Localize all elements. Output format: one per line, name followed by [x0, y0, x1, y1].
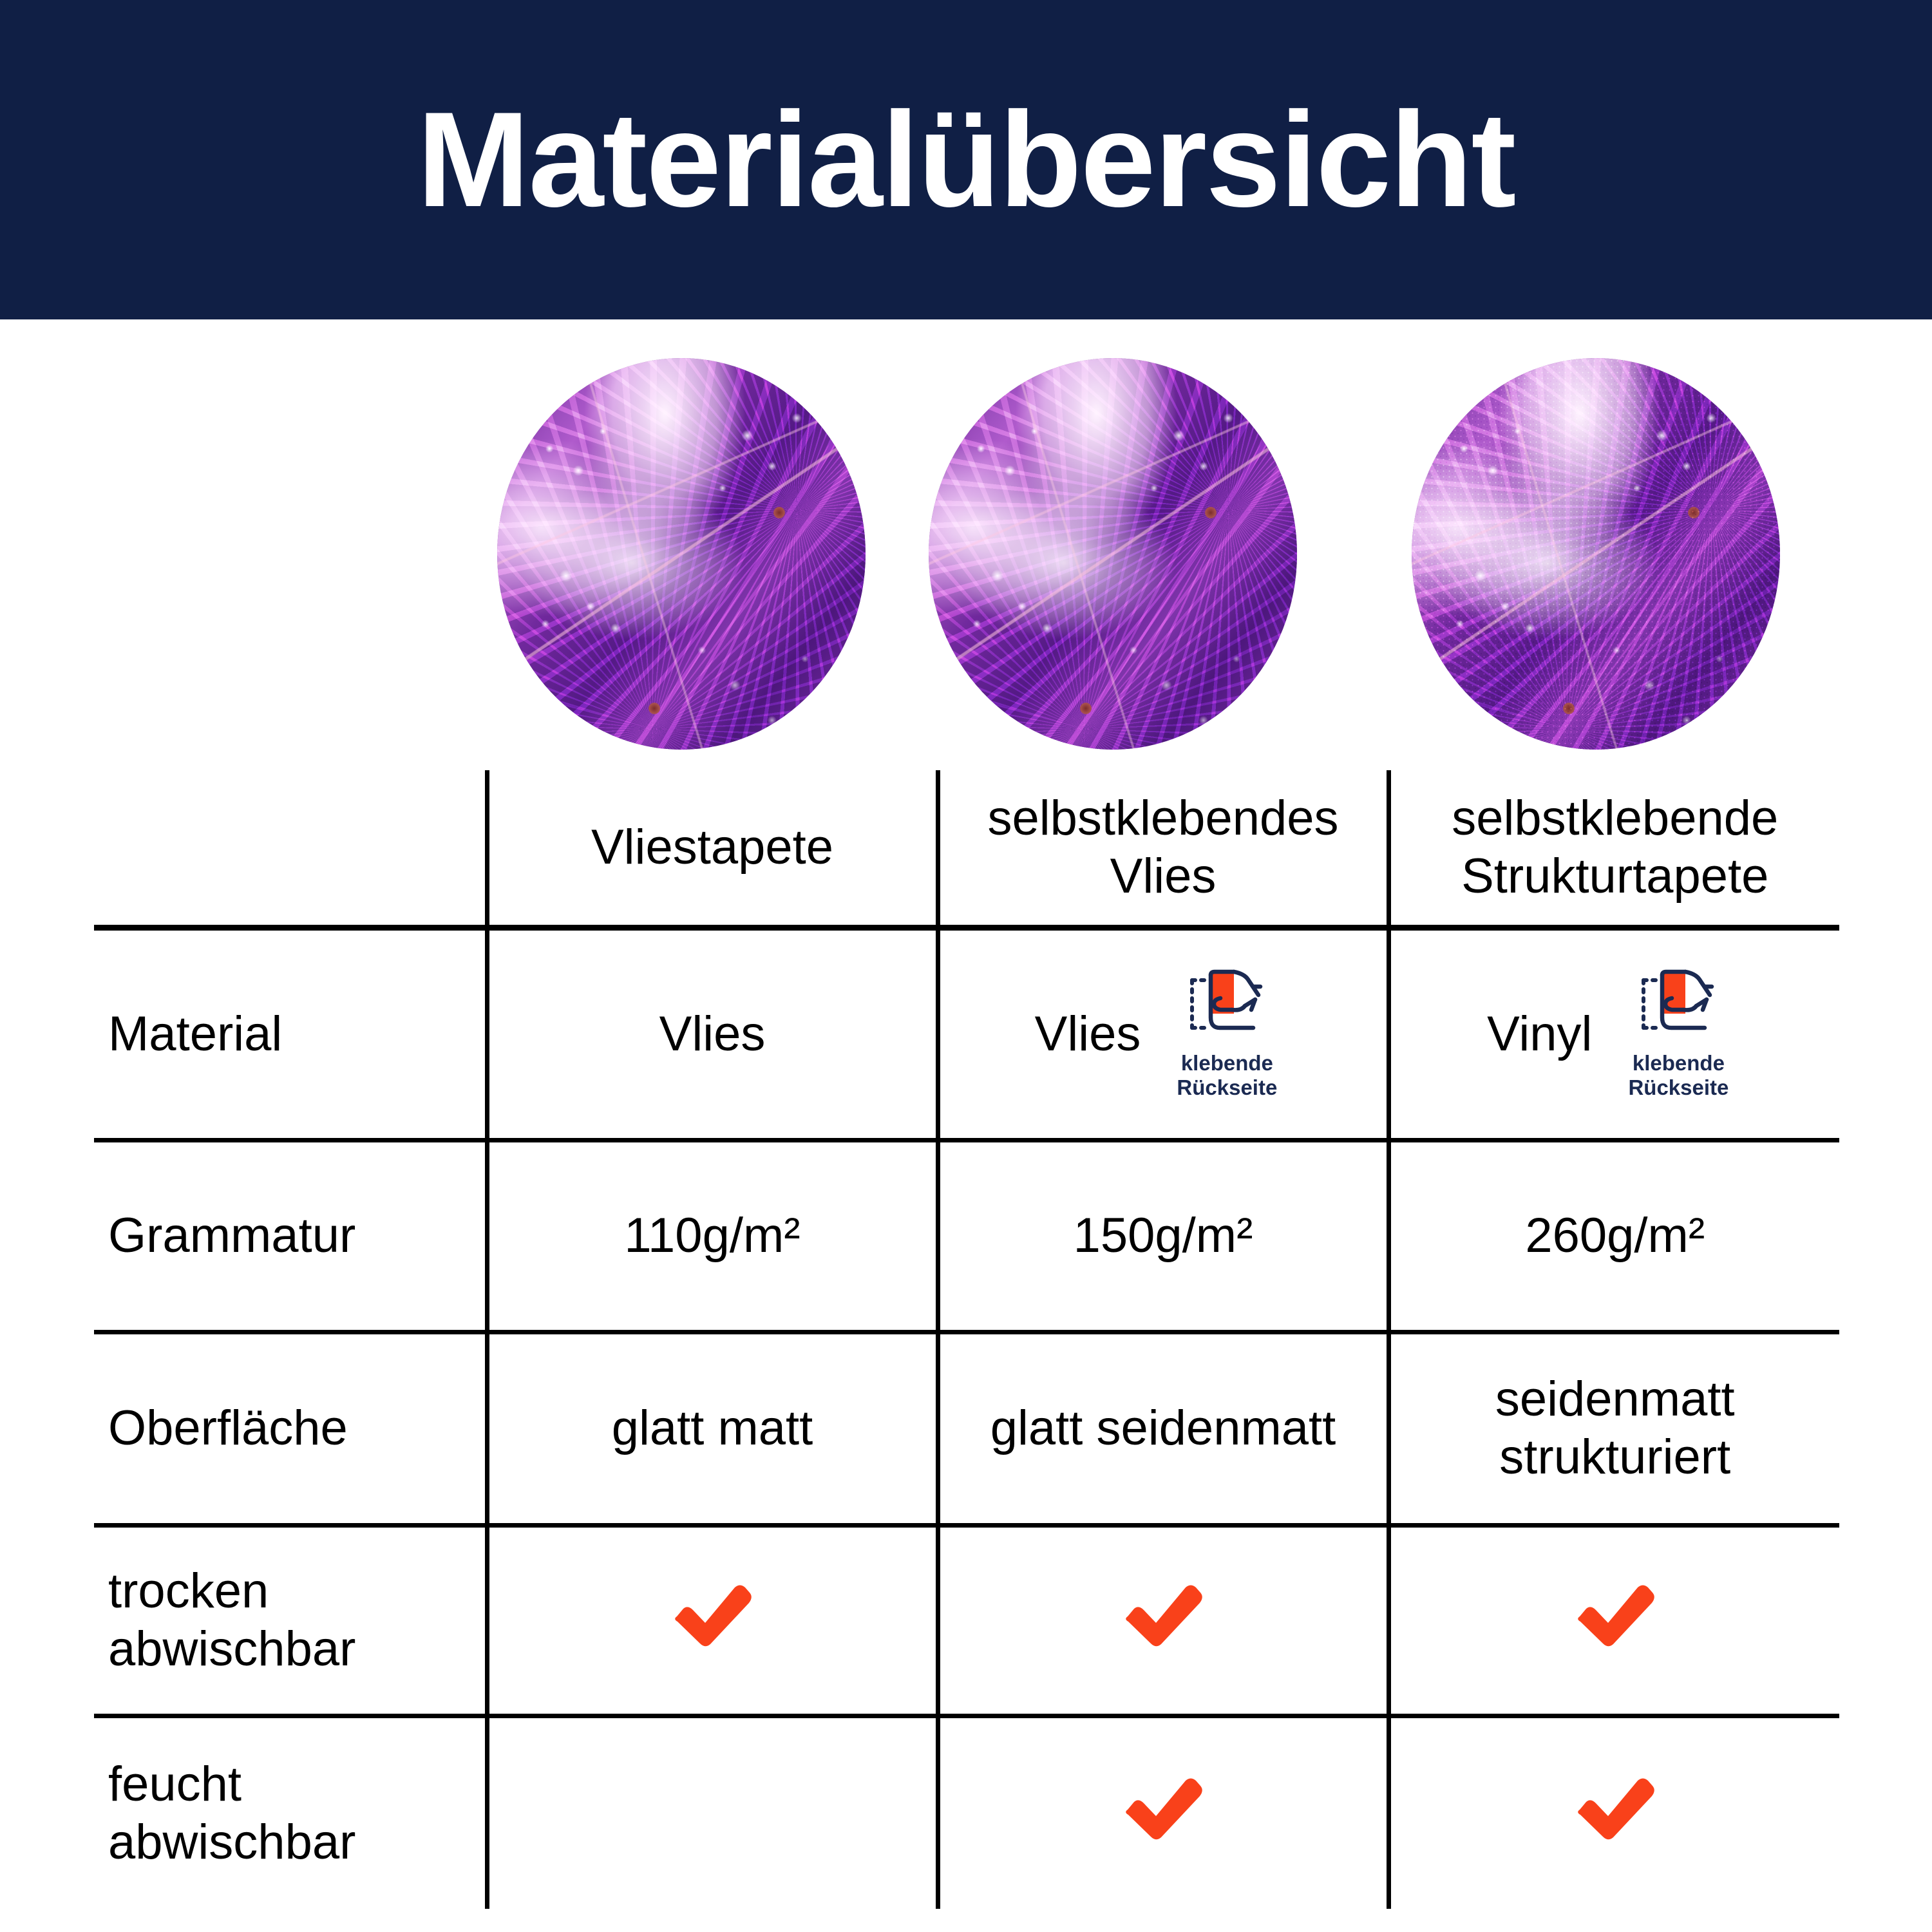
cell-trocken-selbstklebende-strukturtapete [1388, 1525, 1839, 1716]
adhesive-backing-badge: klebende Rückseite [1614, 969, 1743, 1100]
check-icon [1571, 1772, 1660, 1855]
table-row-grammatur: Grammatur 110g/m² 150g/m² 260g/m² [94, 1140, 1839, 1332]
table-row-feucht-abwischbar: feucht abwischbar [94, 1716, 1839, 1909]
header-cell-selbstklebende-strukturtapete: selbstklebende Strukturtapete [1388, 770, 1839, 927]
material-comparison-table: Vliestapete selbstklebendes Vlies selbst… [94, 770, 1839, 1909]
adhesive-backing-badge: klebende Rückseite [1162, 969, 1291, 1100]
check-icon [1119, 1579, 1207, 1662]
check-icon [1571, 1579, 1660, 1662]
cell-value: Vlies [1035, 1005, 1141, 1063]
peel-adhesive-backing-icon [1162, 969, 1291, 1051]
cell-material-selbstklebendes-vlies: Vlies [938, 927, 1388, 1140]
row-label-oberflaeche: Oberfläche [94, 1332, 487, 1525]
cell-feucht-selbstklebende-strukturtapete [1388, 1716, 1839, 1909]
badge-caption-line1: klebende [1162, 1052, 1291, 1075]
cell-feucht-vliestapete [487, 1716, 938, 1909]
table-row-trocken-abwischbar: trocken abwischbar [94, 1525, 1839, 1716]
cell-material-selbstklebende-strukturtapete: Vinyl [1388, 927, 1839, 1140]
cell-grammatur-selbstklebende-strukturtapete: 260g/m² [1388, 1140, 1839, 1332]
header-cell-selbstklebendes-vlies: selbstklebendes Vlies [938, 770, 1388, 927]
cell-feucht-selbstklebendes-vlies [938, 1716, 1388, 1909]
table-row-material: Material Vlies Vlies [94, 927, 1839, 1140]
cell-grammatur-vliestapete: 110g/m² [487, 1140, 938, 1332]
check-icon [668, 1579, 757, 1662]
header-cell-vliestapete: Vliestapete [487, 770, 938, 927]
peel-adhesive-backing-icon [1614, 969, 1743, 1051]
table-row-oberflaeche: Oberfläche glatt matt glatt seidenmatt s… [94, 1332, 1839, 1525]
row-label-trocken-abwischbar: trocken abwischbar [94, 1525, 487, 1716]
material-comparison-table-wrap: Vliestapete selbstklebendes Vlies selbst… [0, 0, 1932, 1932]
cell-oberflaeche-selbstklebendes-vlies: glatt seidenmatt [938, 1332, 1388, 1525]
row-label-grammatur: Grammatur [94, 1140, 487, 1332]
cell-value: Vlies [659, 1005, 766, 1063]
table-header-row: Vliestapete selbstklebendes Vlies selbst… [94, 770, 1839, 927]
row-label-feucht-abwischbar: feucht abwischbar [94, 1716, 487, 1909]
cell-value: Vinyl [1487, 1005, 1592, 1063]
cell-trocken-vliestapete [487, 1525, 938, 1716]
cell-trocken-selbstklebendes-vlies [938, 1525, 1388, 1716]
badge-caption-line2: Rückseite [1162, 1077, 1291, 1099]
row-label-material: Material [94, 927, 487, 1140]
cell-grammatur-selbstklebendes-vlies: 150g/m² [938, 1140, 1388, 1332]
cell-oberflaeche-vliestapete: glatt matt [487, 1332, 938, 1525]
badge-caption-line2: Rückseite [1614, 1077, 1743, 1099]
cell-material-vliestapete: Vlies [487, 927, 938, 1140]
badge-caption-line1: klebende [1614, 1052, 1743, 1075]
header-cell-empty [94, 770, 487, 927]
check-icon [1119, 1772, 1207, 1855]
cell-oberflaeche-selbstklebende-strukturtapete: seidenmatt strukturiert [1388, 1332, 1839, 1525]
